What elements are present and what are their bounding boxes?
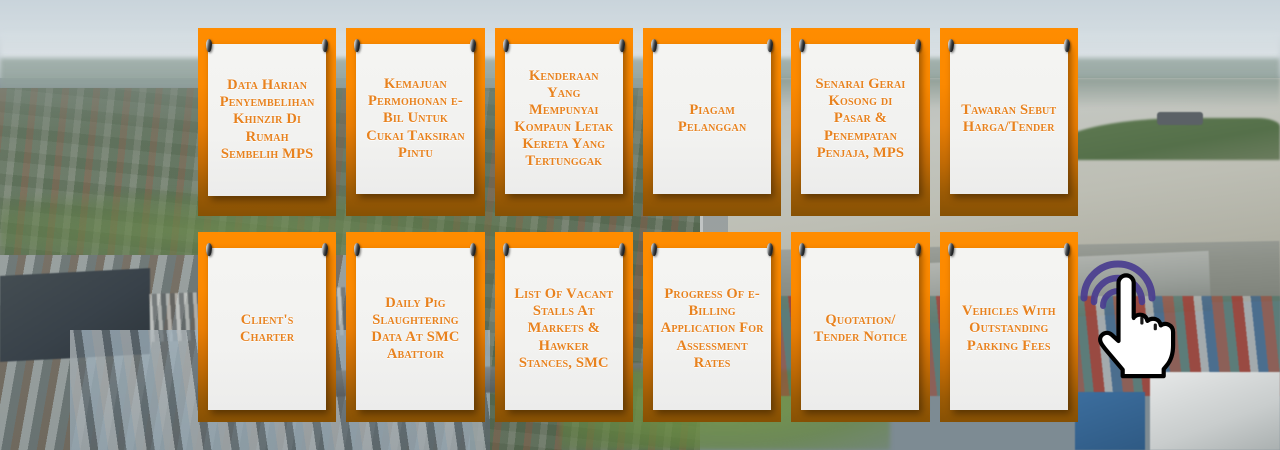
card-paper: Tawaran Sebut Harga/Tender (950, 44, 1068, 194)
card-paper: Vehicles With Outstanding Parking Fees (950, 248, 1068, 410)
service-card-tawaran-sebut-harga-tender[interactable]: Tawaran Sebut Harga/Tender (940, 28, 1078, 216)
river-barge (1157, 112, 1203, 125)
pin-icon (322, 243, 328, 256)
service-card-clients-charter[interactable]: Client's Charter (198, 232, 336, 422)
card-label: Kemajuan Permohonan e-Bil Untuk Cukai Ta… (363, 76, 467, 162)
card-paper: Piagam Pelanggan (653, 44, 771, 194)
pin-icon (619, 39, 625, 52)
service-card-progress-ebilling-assessment[interactable]: Progress Of e-Billing Application For As… (643, 232, 781, 422)
port-building-white (1150, 372, 1280, 450)
card-paper: Client's Charter (208, 248, 326, 410)
pin-icon (322, 39, 328, 52)
pin-icon (619, 243, 625, 256)
pin-icon (1064, 243, 1070, 256)
service-card-list-of-vacant-stalls[interactable]: List Of Vacant Stalls At Markets & Hawke… (495, 232, 633, 422)
pin-icon (354, 243, 360, 256)
pin-icon (767, 243, 773, 256)
pin-icon (206, 243, 212, 256)
card-paper: Data Harian Penyembelihan Khinzir Di Rum… (208, 44, 326, 196)
card-label: Kenderaan Yang Mempunyai Kompaun Letak K… (512, 68, 616, 171)
pin-icon (948, 39, 954, 52)
service-card-grid: Data Harian Penyembelihan Khinzir Di Rum… (198, 28, 1078, 422)
card-label: Tawaran Sebut Harga/Tender (957, 102, 1061, 136)
pin-icon (503, 243, 509, 256)
card-label: Piagam Pelanggan (660, 102, 764, 136)
pin-icon (354, 39, 360, 52)
pin-icon (1064, 39, 1070, 52)
card-paper: List Of Vacant Stalls At Markets & Hawke… (505, 248, 623, 410)
service-card-kemajuan-permohonan-ebil[interactable]: Kemajuan Permohonan e-Bil Untuk Cukai Ta… (346, 28, 484, 216)
card-paper: Quotation/ Tender Notice (801, 248, 919, 410)
pin-icon (651, 39, 657, 52)
card-label: Quotation/ Tender Notice (808, 312, 912, 346)
card-label: List Of Vacant Stalls At Markets & Hawke… (512, 286, 616, 372)
card-paper: Progress Of e-Billing Application For As… (653, 248, 771, 410)
card-label: Client's Charter (215, 312, 319, 346)
card-label: Senarai Gerai Kosong di Pasar & Penempat… (808, 76, 912, 162)
card-paper: Daily Pig Slaughtering Data At SMC Abatt… (356, 248, 474, 410)
service-card-senarai-gerai-kosong[interactable]: Senarai Gerai Kosong di Pasar & Penempat… (791, 28, 929, 216)
pin-icon (915, 243, 921, 256)
port-building-blue (1075, 392, 1145, 450)
pin-icon (767, 39, 773, 52)
pin-icon (206, 39, 212, 52)
pin-icon (651, 243, 657, 256)
service-card-data-harian-penyembelihan[interactable]: Data Harian Penyembelihan Khinzir Di Rum… (198, 28, 336, 216)
card-label: Progress Of e-Billing Application For As… (660, 286, 764, 372)
pin-icon (799, 39, 805, 52)
card-paper: Kemajuan Permohonan e-Bil Untuk Cukai Ta… (356, 44, 474, 194)
card-label: Data Harian Penyembelihan Khinzir Di Rum… (215, 77, 319, 163)
service-card-piagam-pelanggan[interactable]: Piagam Pelanggan (643, 28, 781, 216)
service-card-vehicles-outstanding-fees[interactable]: Vehicles With Outstanding Parking Fees (940, 232, 1078, 422)
pin-icon (915, 39, 921, 52)
pin-icon (799, 243, 805, 256)
pin-icon (470, 243, 476, 256)
pin-icon (470, 39, 476, 52)
card-paper: Kenderaan Yang Mempunyai Kompaun Letak K… (505, 44, 623, 194)
card-label: Daily Pig Slaughtering Data At SMC Abatt… (363, 295, 467, 363)
card-paper: Senarai Gerai Kosong di Pasar & Penempat… (801, 44, 919, 194)
service-card-quotation-tender-notice[interactable]: Quotation/ Tender Notice (791, 232, 929, 422)
service-card-daily-pig-slaughtering-data[interactable]: Daily Pig Slaughtering Data At SMC Abatt… (346, 232, 484, 422)
card-label: Vehicles With Outstanding Parking Fees (957, 303, 1061, 354)
pin-icon (503, 39, 509, 52)
service-card-kenderaan-kompaun-letak[interactable]: Kenderaan Yang Mempunyai Kompaun Letak K… (495, 28, 633, 216)
pin-icon (948, 243, 954, 256)
